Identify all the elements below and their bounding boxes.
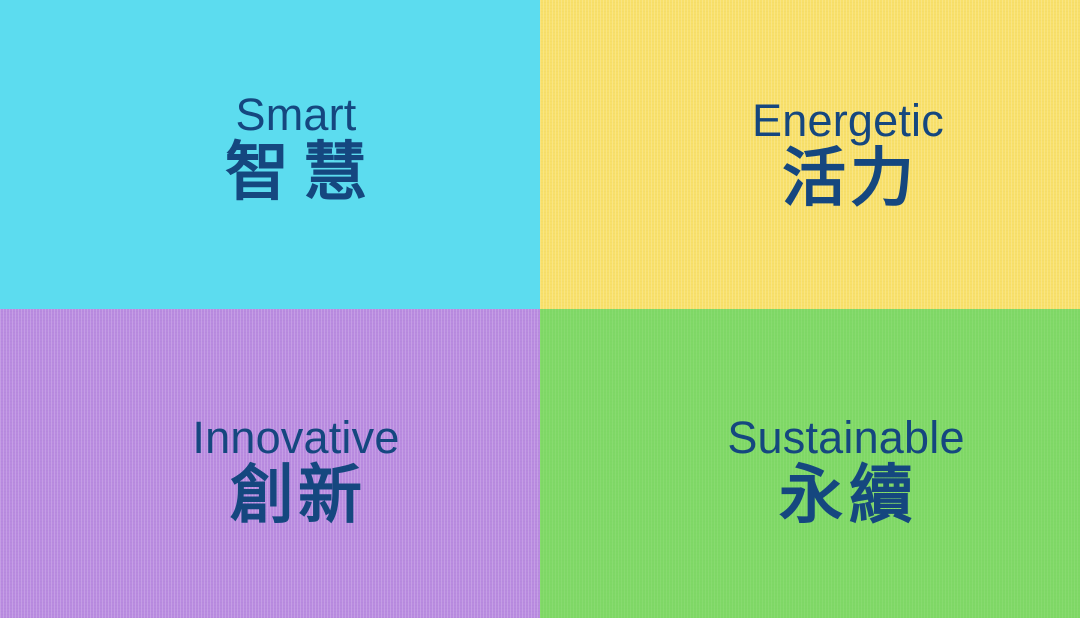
panel-innovative-chinese-label: 創新 <box>192 464 399 528</box>
panel-sustainable-text-stack: Sustainable 永續 <box>727 415 964 528</box>
panel-energetic-text-stack: Energetic 活力 <box>752 98 944 211</box>
brand-values-quadrant-board: Smart 智慧 Energetic 活力 Innovative 創新 Sust… <box>0 0 1080 618</box>
panel-sustainable: Sustainable 永續 <box>540 309 1080 618</box>
panel-energetic-chinese-label: 活力 <box>752 147 944 211</box>
panel-smart-text-stack: Smart 智慧 <box>211 92 381 205</box>
panel-smart: Smart 智慧 <box>0 0 540 309</box>
panel-sustainable-chinese-label: 永續 <box>727 464 964 528</box>
panel-sustainable-english-label: Sustainable <box>727 415 964 460</box>
panel-innovative-text-stack: Innovative 創新 <box>192 415 399 528</box>
panel-energetic: Energetic 活力 <box>540 0 1080 309</box>
panel-smart-chinese-label: 智慧 <box>211 141 381 205</box>
panel-energetic-english-label: Energetic <box>752 98 944 143</box>
panel-smart-english-label: Smart <box>211 92 381 137</box>
panel-innovative-english-label: Innovative <box>192 415 399 460</box>
panel-innovative: Innovative 創新 <box>0 309 540 618</box>
